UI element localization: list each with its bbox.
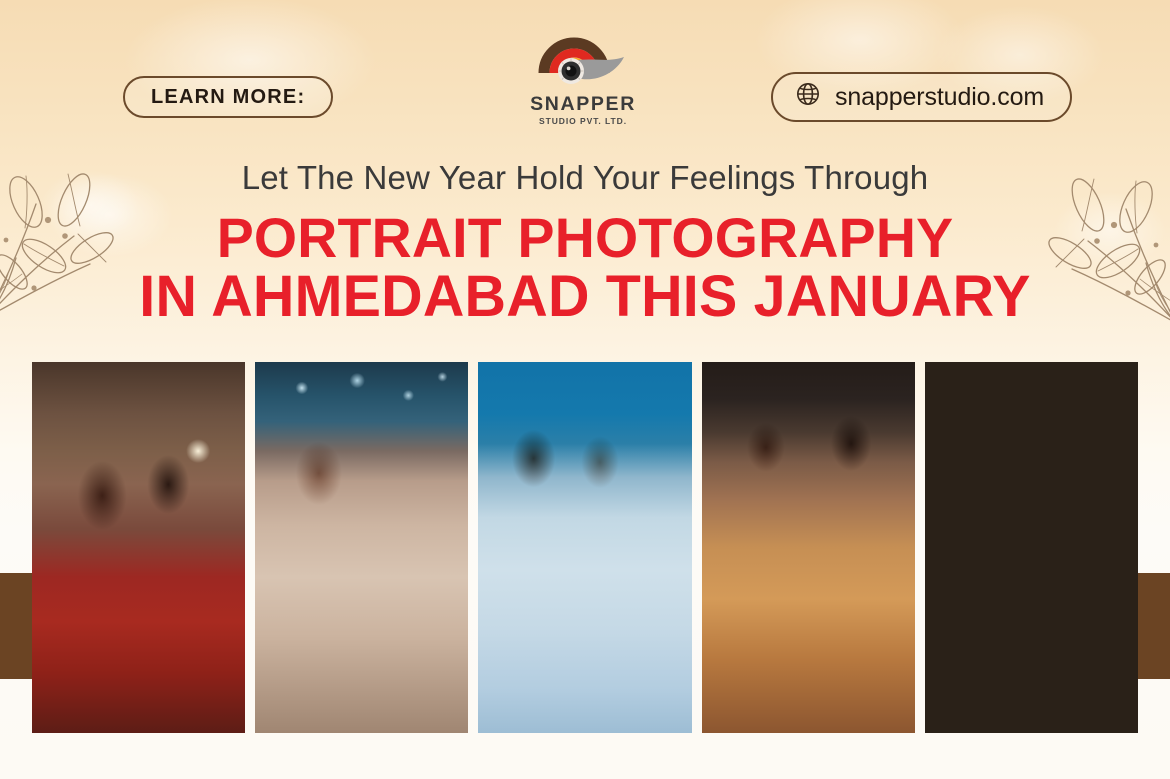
learn-more-label: LEARN MORE:: [151, 86, 305, 109]
headline-main: PORTRAIT PHOTOGRAPHY IN AHMEDABAD THIS J…: [6, 209, 1164, 326]
accent-band-right: [1137, 573, 1170, 679]
website-label: snapperstudio.com: [835, 83, 1044, 112]
headline-block: Let The New Year Hold Your Feelings Thro…: [0, 160, 1170, 326]
brand-subtitle: STUDIO PVT. LTD.: [508, 117, 658, 126]
promo-banner: LEARN MORE: snapperstudio.com: [0, 0, 1170, 779]
brand-name: SNAPPER: [508, 95, 658, 115]
globe-icon: [795, 81, 821, 114]
website-link-button[interactable]: snapperstudio.com: [771, 72, 1072, 122]
headline-eyebrow: Let The New Year Hold Your Feelings Thro…: [0, 160, 1170, 197]
gallery-photo: Couple at night with fairy lights, man i…: [925, 362, 1138, 733]
headline-line-2: IN AHMEDABAD THIS JANUARY: [6, 267, 1164, 327]
accent-band-left: [0, 573, 33, 679]
gallery-photo: Couple in pink and gold kanjivaram saree…: [702, 362, 915, 733]
photo-gallery-strip: Couple indoors, woman in red embroidered…: [32, 362, 1138, 733]
gallery-photo: Couple indoors, woman in red embroidered…: [32, 362, 245, 733]
gallery-photo: Couple against bright blue sky, both in …: [478, 362, 691, 733]
gallery-photo: Couple outdoors under blue bokeh foliage…: [255, 362, 468, 733]
headline-line-1: PORTRAIT PHOTOGRAPHY: [6, 209, 1164, 267]
learn-more-button[interactable]: LEARN MORE:: [123, 76, 333, 118]
brand-logo[interactable]: SNAPPER STUDIO PVT. LTD.: [508, 27, 658, 125]
banner-topbar: LEARN MORE: snapperstudio.com: [0, 0, 1170, 145]
camera-lens-rainbow-logo-icon: [508, 27, 658, 94]
